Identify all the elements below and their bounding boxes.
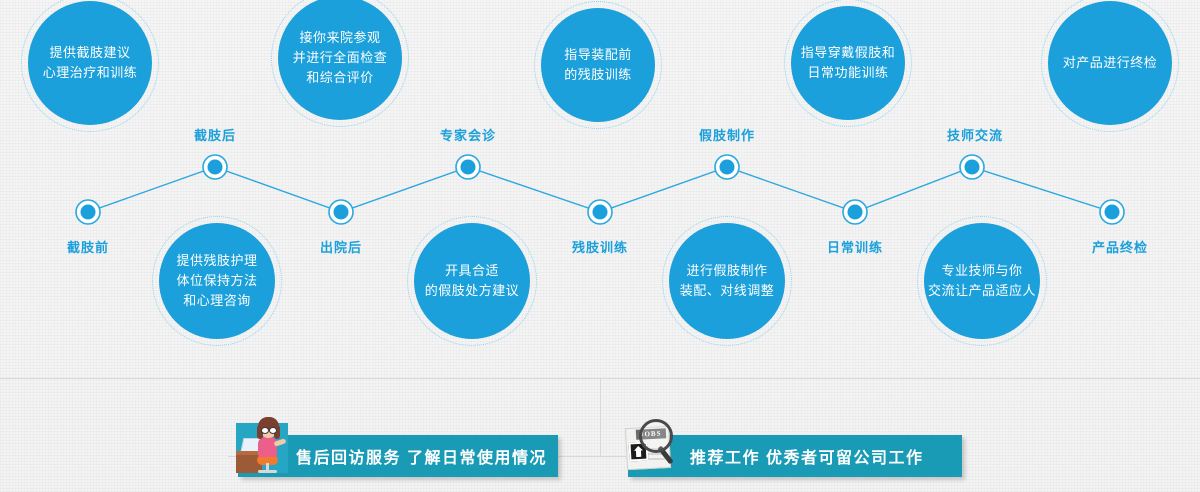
- node-label-product-final-check[interactable]: 产品终检: [1092, 237, 1148, 256]
- node-marker-1: [76, 200, 100, 224]
- timeline-infographic: 提供截肢建议 心理治疗和训练 接你来院参观 并进行全面检查 和综合评价 指导装配…: [0, 0, 1200, 492]
- node-label-post-amputation[interactable]: 截肢后: [194, 125, 236, 144]
- section-divider-vertical: [600, 378, 601, 457]
- bubble-top-final-inspection[interactable]: 对产品进行终检: [1048, 1, 1172, 125]
- bubble-line: 指导穿戴假肢和: [801, 43, 896, 63]
- bubble-line: 交流让产品适应人: [928, 281, 1036, 301]
- node-marker-9: [1100, 200, 1124, 224]
- banner-after-sales-label: 售后回访服务 了解日常使用情况: [296, 444, 547, 468]
- bubble-line: 和综合评价: [306, 68, 374, 88]
- desk-girl-icon: [230, 415, 292, 477]
- node-marker-5: [588, 200, 612, 224]
- banner-job-referral-label: 推荐工作 优秀者可留公司工作: [690, 444, 923, 468]
- bubble-line: 心理治疗和训练: [43, 63, 138, 83]
- node-marker-6: [715, 155, 739, 179]
- bubble-bottom-technician-exchange[interactable]: 专业技师与你 交流让产品适应人: [924, 223, 1040, 339]
- bubble-line: 提供残肢护理: [176, 251, 257, 271]
- node-label-post-discharge[interactable]: 出院后: [320, 237, 362, 256]
- bubble-bottom-stump-care[interactable]: 提供残肢护理 体位保持方法 和心理咨询: [159, 223, 275, 339]
- bubble-line: 并进行全面检查: [293, 48, 388, 68]
- node-label-prosthesis-making[interactable]: 假肢制作: [699, 125, 755, 144]
- node-marker-3: [329, 200, 353, 224]
- bubble-line: 和心理咨询: [183, 291, 251, 311]
- banner-after-sales[interactable]: 售后回访服务 了解日常使用情况: [238, 435, 558, 477]
- node-label-stump-training[interactable]: 残肢训练: [572, 237, 628, 256]
- bubble-line: 日常功能训练: [807, 63, 888, 83]
- bubble-line: 进行假肢制作: [686, 261, 767, 281]
- bubble-line: 提供截肢建议: [49, 43, 130, 63]
- bubble-line: 接你来院参观: [299, 28, 380, 48]
- node-label-pre-amputation[interactable]: 截肢前: [67, 237, 109, 256]
- bubble-line: 体位保持方法: [176, 271, 257, 291]
- bubble-line: 的假肢处方建议: [425, 281, 520, 301]
- node-marker-7: [843, 200, 867, 224]
- bubble-line: 指导装配前: [564, 45, 632, 65]
- bubble-top-wearing-guidance[interactable]: 指导穿戴假肢和 日常功能训练: [791, 6, 905, 120]
- bubble-line: 对产品进行终检: [1063, 53, 1158, 73]
- node-marker-8: [960, 155, 984, 179]
- node-label-technician-exchange[interactable]: 技师交流: [947, 125, 1003, 144]
- node-marker-2: [203, 155, 227, 179]
- banner-job-referral[interactable]: JOBS 推荐工作 优秀者可留公司工作: [628, 435, 962, 477]
- node-marker-4: [456, 155, 480, 179]
- bubble-line: 的残肢训练: [564, 65, 632, 85]
- bubble-top-hospital-visit[interactable]: 接你来院参观 并进行全面检查 和综合评价: [278, 0, 402, 120]
- bubble-top-amputation-advice[interactable]: 提供截肢建议 心理治疗和训练: [28, 1, 152, 125]
- bubble-line: 装配、对线调整: [680, 281, 775, 301]
- node-marker-group: [76, 155, 1124, 224]
- jobs-magnifier-icon: JOBS: [620, 415, 682, 477]
- bubble-line: 开具合适: [445, 261, 499, 281]
- bubble-top-pre-fitting-training[interactable]: 指导装配前 的残肢训练: [541, 8, 655, 122]
- bubble-line: 专业技师与你: [941, 261, 1022, 281]
- bubble-bottom-prescription[interactable]: 开具合适 的假肢处方建议: [414, 223, 530, 339]
- node-label-daily-training[interactable]: 日常训练: [827, 237, 883, 256]
- node-label-expert-consultation[interactable]: 专家会诊: [440, 125, 496, 144]
- bubble-bottom-manufacturing[interactable]: 进行假肢制作 装配、对线调整: [669, 223, 785, 339]
